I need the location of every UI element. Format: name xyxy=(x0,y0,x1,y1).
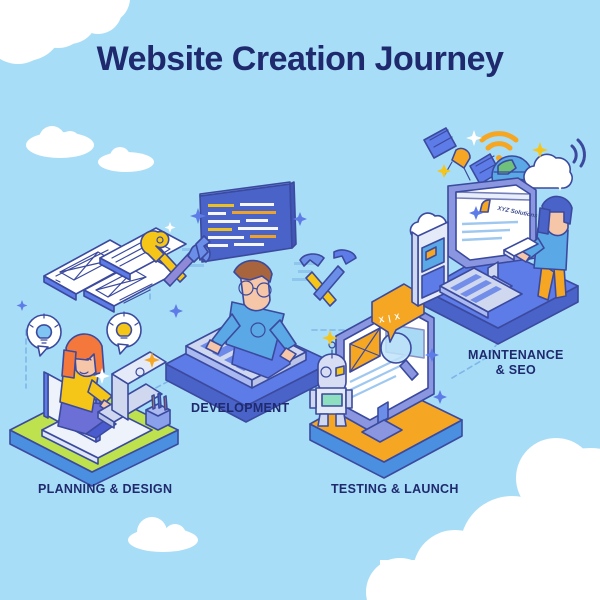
journey-illustration: .ol{stroke:#3b4a9e;stroke-width:1.6;stro… xyxy=(0,0,600,600)
step-label-planning: PLANNING & DESIGN xyxy=(38,482,172,497)
step-label-maintenance: MAINTENANCE & SEO xyxy=(468,348,564,378)
cloud-icon xyxy=(524,140,585,188)
idea-bubble-right xyxy=(107,312,141,354)
scene-planning-design xyxy=(10,228,186,486)
step-label-testing: TESTING & LAUNCH xyxy=(331,482,459,497)
infographic-canvas: Website Creation Journey .ol{stroke:#3b4… xyxy=(0,0,600,600)
scene-maintenance-seo xyxy=(410,128,584,344)
code-editor-screen xyxy=(200,182,296,262)
step-label-development: DEVELOPMENT xyxy=(191,401,289,416)
tools-hammers xyxy=(300,250,356,306)
idea-bubble-left xyxy=(27,314,61,356)
